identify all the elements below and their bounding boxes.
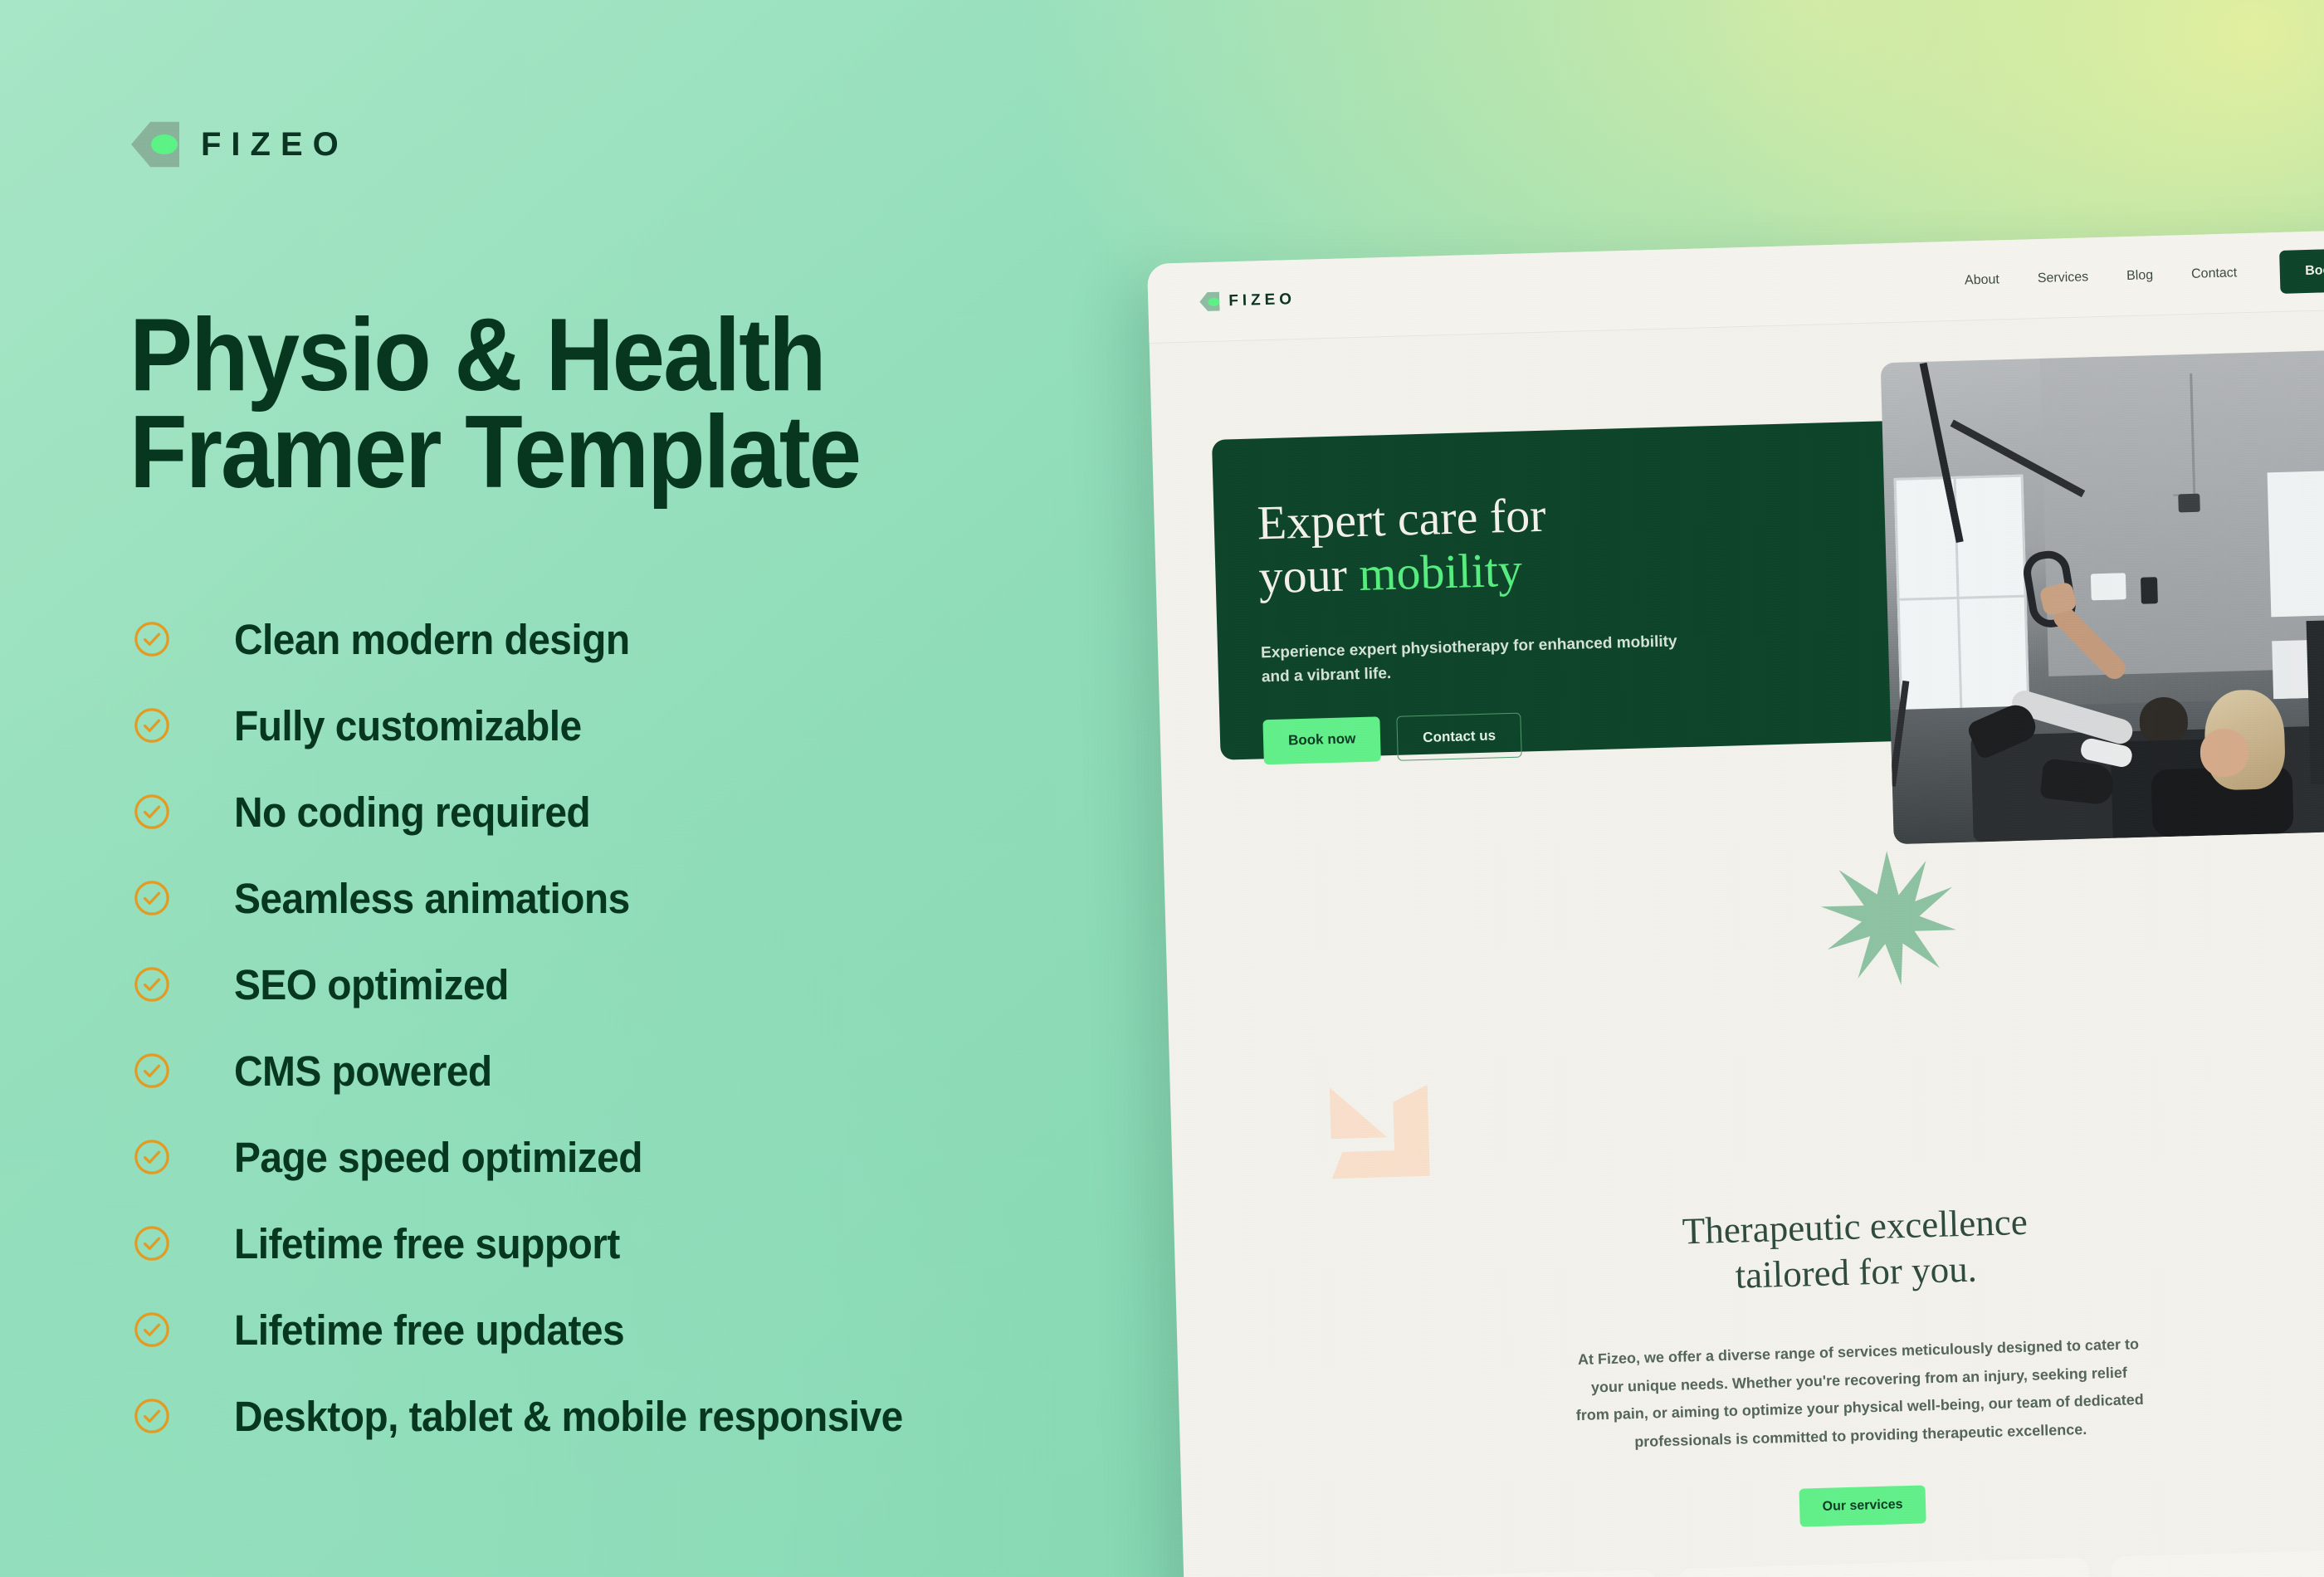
nav-link-services[interactable]: Services	[2038, 270, 2089, 286]
feature-item: Clean modern design	[133, 596, 945, 682]
page-title: Physio & Health Framer Template	[129, 307, 984, 500]
nav-link-blog[interactable]: Blog	[2126, 268, 2154, 284]
feature-item: Fully customizable	[133, 682, 945, 769]
feature-item: Lifetime free updates	[133, 1286, 945, 1373]
service-card-row	[1243, 1544, 2324, 1577]
nav-link-contact[interactable]: Contact	[2191, 266, 2238, 282]
promo-canvas: FIZEO Physio & Health Framer Template Cl…	[0, 0, 2324, 1577]
book-now-button[interactable]: Book now	[1262, 716, 1381, 764]
feature-item: Page speed optimized	[133, 1114, 945, 1200]
about-body-text: At Fizeo, we offer a diverse range of se…	[1572, 1330, 2148, 1459]
hero-subtitle: Experience expert physiotherapy for enha…	[1261, 628, 1701, 690]
feature-list: Clean modern designFully customizableNo …	[133, 596, 945, 1459]
service-card[interactable]	[2110, 1544, 2324, 1577]
feature-label: Lifetime free updates	[234, 1309, 624, 1351]
check-circle-icon	[133, 620, 171, 658]
feature-item: Desktop, tablet & mobile responsive	[133, 1373, 945, 1459]
hero-title: Expert care for your mobility	[1257, 479, 1900, 604]
check-circle-icon	[133, 879, 171, 917]
hero-title-plain: your	[1258, 547, 1360, 603]
feature-label: Clean modern design	[234, 618, 630, 661]
headline-line-2: Framer Template	[129, 404, 984, 501]
mockup-brand-lockup[interactable]: FIZEO	[1199, 289, 1296, 313]
starburst-icon	[1819, 849, 1957, 987]
feature-item: No coding required	[133, 769, 945, 855]
feature-label: Desktop, tablet & mobile responsive	[234, 1395, 903, 1438]
mockup-nav-links: AboutServicesBlogContact	[1965, 266, 2238, 288]
check-circle-icon	[133, 1224, 171, 1262]
service-card[interactable]	[1243, 1568, 1659, 1577]
check-circle-icon	[133, 1138, 171, 1176]
feature-item: CMS powered	[133, 1028, 945, 1114]
feature-label: No coding required	[234, 791, 590, 833]
check-circle-icon	[133, 706, 171, 745]
brand-lockup: FIZEO	[131, 119, 349, 170]
nav-link-about[interactable]: About	[1965, 272, 1999, 288]
feature-label: Fully customizable	[234, 705, 582, 747]
brand-wordmark: FIZEO	[201, 128, 349, 161]
mockup-hero-section: Expert care for your mobility Experience…	[1150, 305, 2324, 925]
hero-title-accent: mobility	[1358, 542, 1522, 600]
our-services-button[interactable]: Our services	[1799, 1485, 1926, 1526]
fizeo-logo-icon	[1199, 290, 1220, 313]
service-card[interactable]	[1677, 1556, 2092, 1577]
fizeo-logo-icon	[131, 119, 179, 170]
left-promo-panel: FIZEO Physio & Health Framer Template Cl…	[0, 0, 1162, 1577]
check-circle-icon	[133, 1397, 171, 1435]
feature-label: Seamless animations	[234, 877, 630, 920]
about-title: Therapeutic excellence tailored for you.	[1174, 1185, 2324, 1315]
book-appointment-button[interactable]: Book an appointment	[2280, 245, 2324, 293]
hero-card: Expert care for your mobility Experience…	[1212, 421, 1904, 760]
hero-button-group: Book now Contact us	[1262, 702, 1904, 765]
feature-label: Lifetime free support	[234, 1223, 620, 1265]
contact-us-button[interactable]: Contact us	[1397, 712, 1522, 760]
check-circle-icon	[133, 793, 171, 831]
arrow-decoration-icon	[1330, 1085, 1430, 1179]
check-circle-icon	[133, 965, 171, 1003]
feature-item: SEO optimized	[133, 941, 945, 1028]
website-mockup: FIZEO AboutServicesBlogContact Book an a…	[1147, 226, 2324, 1577]
feature-label: SEO optimized	[234, 964, 509, 1006]
mockup-brand-wordmark: FIZEO	[1228, 290, 1296, 310]
check-circle-icon	[133, 1052, 171, 1090]
hero-photo	[1881, 349, 2324, 845]
feature-label: Page speed optimized	[234, 1136, 642, 1179]
mockup-about-section: Therapeutic excellence tailored for you.…	[1174, 1185, 2324, 1545]
headline-line-1: Physio & Health	[129, 307, 984, 404]
feature-label: CMS powered	[234, 1050, 492, 1092]
feature-item: Lifetime free support	[133, 1200, 945, 1286]
check-circle-icon	[133, 1311, 171, 1349]
feature-item: Seamless animations	[133, 855, 945, 941]
